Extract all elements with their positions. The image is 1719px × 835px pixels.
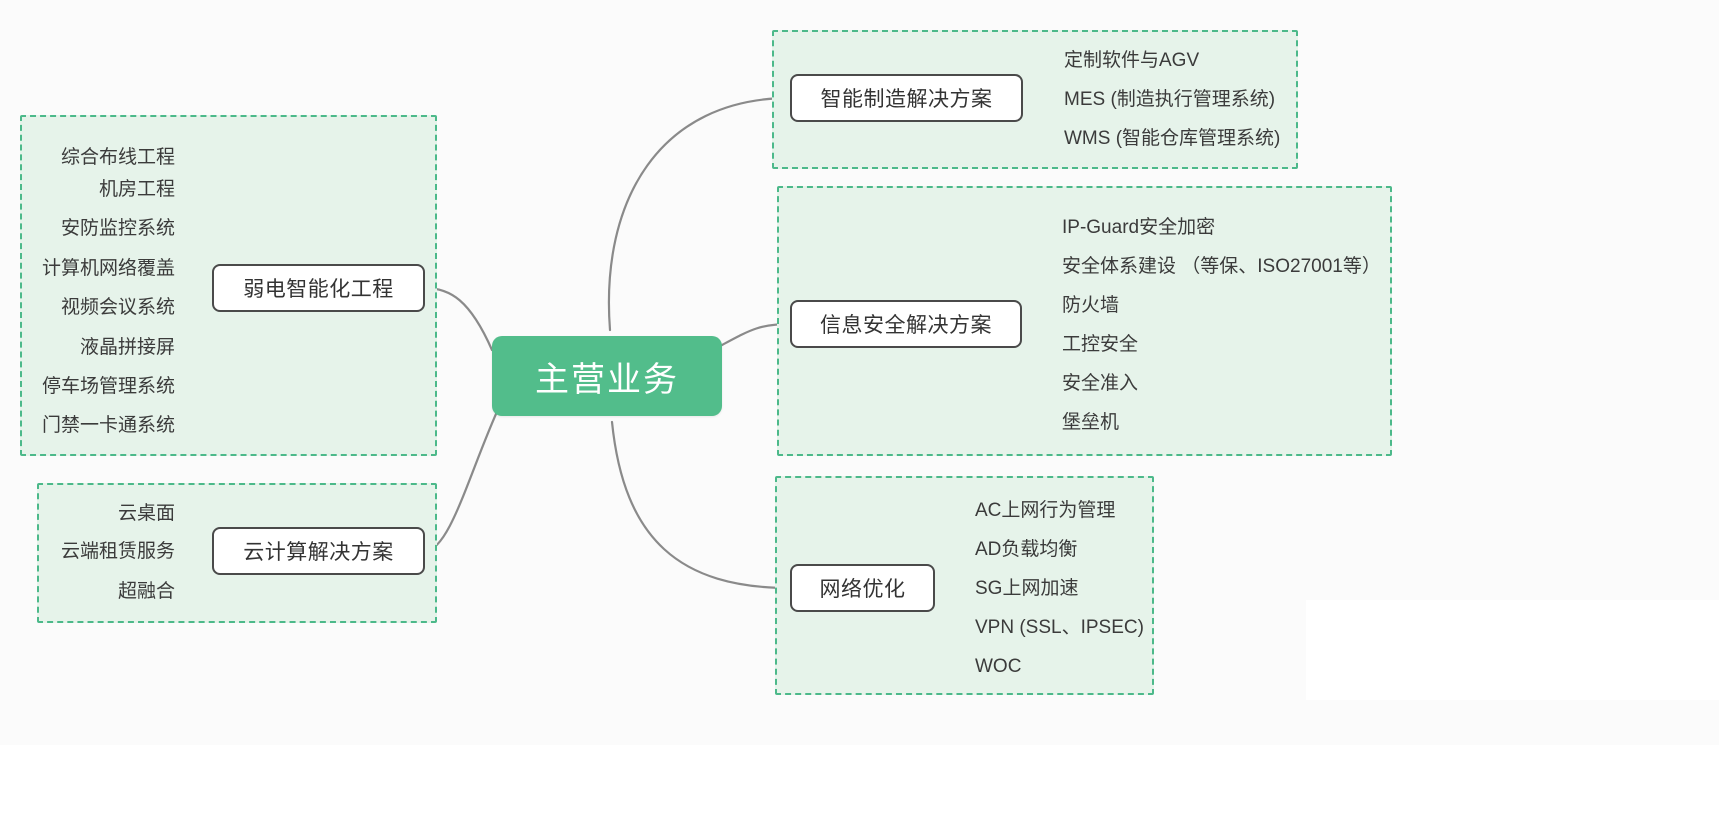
leaf-item[interactable]: 计算机网络覆盖 (42, 259, 175, 278)
branch-node-network[interactable]: 网络优化 (790, 564, 935, 612)
leaf-item[interactable]: 视频会议系统 (61, 298, 175, 317)
leaf-item[interactable]: 安防监控系统 (61, 219, 175, 238)
leaf-item[interactable]: 防火墙 (1062, 296, 1119, 315)
leaf-item[interactable]: 安全准入 (1062, 374, 1138, 393)
root-node-label: 主营业务 (535, 352, 679, 401)
leaf-item[interactable]: 堡垒机 (1062, 413, 1119, 432)
branch-node-weakcurrent[interactable]: 弱电智能化工程 (212, 264, 425, 312)
leaf-item[interactable]: WMS (智能仓库管理系统) (1064, 129, 1280, 148)
branch-node-label: 网络优化 (820, 573, 906, 603)
leaf-item[interactable]: VPN (SSL、IPSEC) (975, 618, 1144, 637)
branch-node-label: 云计算解决方案 (243, 536, 394, 566)
branch-node-label: 信息安全解决方案 (820, 309, 992, 339)
leaf-item[interactable]: 定制软件与AGV (1064, 51, 1199, 70)
leaf-item[interactable]: 停车场管理系统 (42, 377, 175, 396)
leaf-item[interactable]: IP-Guard安全加密 (1062, 218, 1215, 237)
mindmap-canvas: 主营业务 弱电智能化工程 云计算解决方案 智能制造解决方案 信息安全解决方案 网… (0, 0, 1719, 835)
root-node[interactable]: 主营业务 (492, 336, 722, 416)
branch-node-label: 弱电智能化工程 (243, 273, 394, 303)
leaf-item[interactable]: AC上网行为管理 (975, 501, 1115, 520)
leaf-item[interactable]: 工控安全 (1062, 335, 1138, 354)
leaf-item[interactable]: 云桌面 (118, 504, 175, 523)
leaf-item[interactable]: WOC (975, 657, 1021, 676)
branch-node-security[interactable]: 信息安全解决方案 (790, 300, 1022, 348)
leaf-item[interactable]: MES (制造执行管理系统) (1064, 90, 1275, 109)
leaf-item[interactable]: SG上网加速 (975, 579, 1078, 598)
leaf-item[interactable]: 综合布线工程 (61, 148, 175, 167)
branch-node-cloud[interactable]: 云计算解决方案 (212, 527, 425, 575)
background-white-strip (0, 745, 1719, 835)
leaf-item[interactable]: 液晶拼接屏 (80, 338, 175, 357)
leaf-item[interactable]: 超融合 (118, 582, 175, 601)
leaf-item[interactable]: 安全体系建设 （等保、ISO27001等） (1062, 257, 1381, 276)
leaf-item[interactable]: 门禁一卡通系统 (42, 416, 175, 435)
branch-node-label: 智能制造解决方案 (821, 83, 993, 113)
branch-node-manufacturing[interactable]: 智能制造解决方案 (790, 74, 1023, 122)
leaf-item[interactable]: 机房工程 (99, 180, 175, 199)
leaf-item[interactable]: AD负载均衡 (975, 540, 1077, 559)
background-white-patch (1306, 600, 1719, 700)
leaf-item[interactable]: 云端租赁服务 (61, 542, 175, 561)
